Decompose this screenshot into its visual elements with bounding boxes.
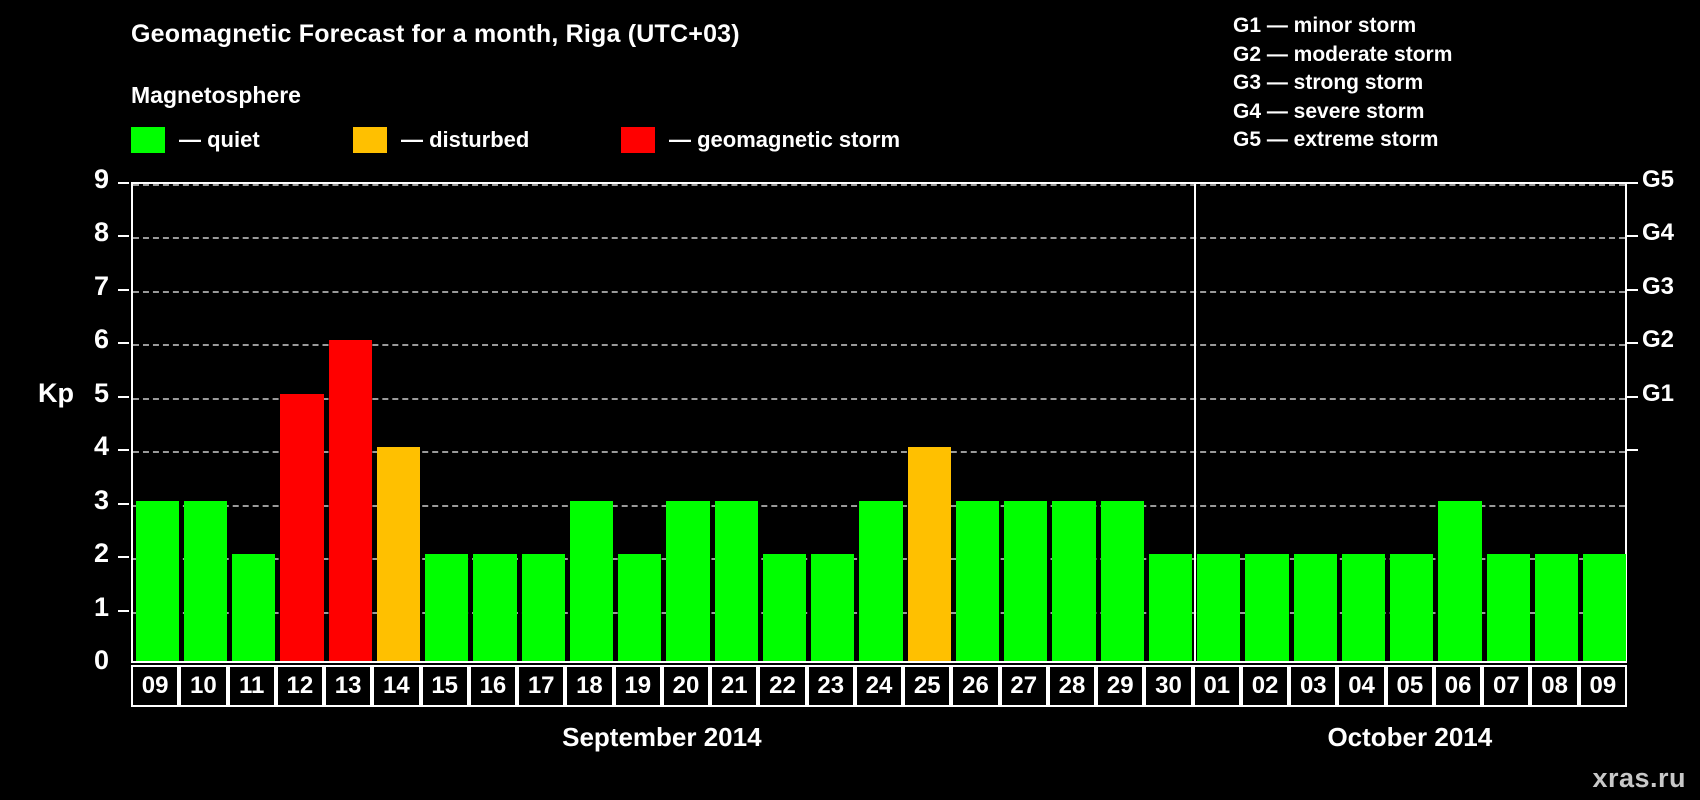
date-cell-29[interactable]: 29	[1096, 665, 1144, 707]
bar-september-24	[859, 501, 902, 661]
g-tick-mark-G5	[1627, 182, 1638, 184]
y-tick-label-8: 8	[69, 217, 109, 248]
bar-september-13	[329, 340, 372, 661]
date-cell-11[interactable]: 11	[228, 665, 276, 707]
bar-september-14	[377, 447, 420, 661]
legend-item-0: — quiet	[131, 125, 260, 155]
g-tick-mark-G4	[1627, 235, 1638, 237]
bar-september-10	[184, 501, 227, 661]
watermark: xras.ru	[1592, 763, 1686, 794]
date-cell-01[interactable]: 01	[1193, 665, 1241, 707]
date-cell-02[interactable]: 02	[1241, 665, 1289, 707]
date-cell-27[interactable]: 27	[1000, 665, 1048, 707]
bar-october-06	[1438, 501, 1481, 661]
g-axis-label-G3: G3	[1642, 273, 1674, 301]
y-tick-label-5: 5	[69, 378, 109, 409]
date-cell-09[interactable]: 09	[1579, 665, 1627, 707]
date-cell-21[interactable]: 21	[710, 665, 758, 707]
g-axis-label-G4: G4	[1642, 219, 1674, 247]
date-cell-08[interactable]: 08	[1530, 665, 1578, 707]
date-cell-20[interactable]: 20	[662, 665, 710, 707]
date-cell-04[interactable]: 04	[1337, 665, 1385, 707]
page-title: Geomagnetic Forecast for a month, Riga (…	[131, 20, 740, 49]
date-cell-30[interactable]: 30	[1144, 665, 1192, 707]
g-tick-mark-G1	[1627, 396, 1638, 398]
y-tick-mark-1	[118, 610, 129, 612]
y-tick-label-1: 1	[69, 592, 109, 623]
date-cell-13[interactable]: 13	[324, 665, 372, 707]
y-tick-mark-9	[118, 182, 129, 184]
magnetosphere-label: Magnetosphere	[131, 82, 301, 109]
g-scale-legend: G1 — minor stormG2 — moderate stormG3 — …	[1233, 12, 1452, 155]
bar-september-11	[232, 554, 275, 661]
date-cell-18[interactable]: 18	[565, 665, 613, 707]
y-tick-mark-5	[118, 396, 129, 398]
bar-september-29	[1101, 501, 1144, 661]
date-cell-19[interactable]: 19	[614, 665, 662, 707]
date-cell-05[interactable]: 05	[1386, 665, 1434, 707]
legend-item-label: — quiet	[179, 127, 260, 153]
bar-october-03	[1294, 554, 1337, 661]
date-cell-15[interactable]: 15	[421, 665, 469, 707]
bar-october-08	[1535, 554, 1578, 661]
date-cell-17[interactable]: 17	[517, 665, 565, 707]
legend-item-1: — disturbed	[353, 125, 529, 155]
bar-september-17	[522, 554, 565, 661]
disturbed-swatch	[353, 127, 387, 153]
month-caption-0: September 2014	[131, 722, 1193, 753]
bar-september-23	[811, 554, 854, 661]
date-cell-28[interactable]: 28	[1048, 665, 1096, 707]
y-tick-label-6: 6	[69, 324, 109, 355]
g-scale-item-2: G2 — moderate storm	[1233, 41, 1452, 70]
plot-area	[131, 182, 1627, 663]
date-cell-24[interactable]: 24	[855, 665, 903, 707]
bar-september-21	[715, 501, 758, 661]
bar-september-28	[1052, 501, 1095, 661]
storm-swatch	[621, 127, 655, 153]
date-cell-14[interactable]: 14	[372, 665, 420, 707]
bar-september-22	[763, 554, 806, 661]
bar-september-27	[1004, 501, 1047, 661]
bar-september-19	[618, 554, 661, 661]
g-axis-label-G1: G1	[1642, 380, 1674, 408]
g-scale-item-5: G5 — extreme storm	[1233, 126, 1452, 155]
bar-october-01	[1197, 554, 1240, 661]
g-scale-item-4: G4 — severe storm	[1233, 98, 1452, 127]
date-cell-03[interactable]: 03	[1289, 665, 1337, 707]
g-tick-mark-kp4	[1627, 449, 1638, 451]
g-axis-label-G2: G2	[1642, 326, 1674, 354]
bar-series	[133, 184, 1625, 661]
bar-october-07	[1487, 554, 1530, 661]
y-tick-mark-2	[118, 556, 129, 558]
y-tick-label-9: 9	[69, 164, 109, 195]
y-tick-mark-7	[118, 289, 129, 291]
bar-september-25	[908, 447, 951, 661]
g-tick-mark-G3	[1627, 289, 1638, 291]
y-tick-label-2: 2	[69, 538, 109, 569]
bar-september-18	[570, 501, 613, 661]
date-cell-09[interactable]: 09	[131, 665, 179, 707]
g-tick-mark-G2	[1627, 342, 1638, 344]
date-cell-25[interactable]: 25	[903, 665, 951, 707]
legend-item-label: — disturbed	[401, 127, 529, 153]
date-cell-26[interactable]: 26	[951, 665, 999, 707]
y-tick-mark-6	[118, 342, 129, 344]
month-caption-1: October 2014	[1193, 722, 1627, 753]
g-axis-label-G5: G5	[1642, 166, 1674, 194]
y-tick-label-0: 0	[69, 645, 109, 676]
bar-september-16	[473, 554, 516, 661]
bar-september-20	[666, 501, 709, 661]
date-cell-07[interactable]: 07	[1482, 665, 1530, 707]
date-cell-10[interactable]: 10	[179, 665, 227, 707]
y-tick-mark-3	[118, 503, 129, 505]
bar-september-09	[136, 501, 179, 661]
bar-september-15	[425, 554, 468, 661]
bar-september-12	[280, 394, 323, 661]
bar-october-02	[1245, 554, 1288, 661]
geomagnetic-forecast-chart: Geomagnetic Forecast for a month, Riga (…	[0, 0, 1700, 800]
y-tick-label-7: 7	[69, 271, 109, 302]
y-tick-mark-8	[118, 235, 129, 237]
g-scale-item-3: G3 — strong storm	[1233, 69, 1452, 98]
bar-october-09	[1583, 554, 1626, 661]
date-cell-06[interactable]: 06	[1434, 665, 1482, 707]
month-separator	[1194, 184, 1196, 661]
legend-item-2: — geomagnetic storm	[621, 125, 900, 155]
bar-september-26	[956, 501, 999, 661]
date-cell-23[interactable]: 23	[807, 665, 855, 707]
date-cell-12[interactable]: 12	[276, 665, 324, 707]
y-tick-mark-4	[118, 449, 129, 451]
bar-october-04	[1342, 554, 1385, 661]
legend-item-label: — geomagnetic storm	[669, 127, 900, 153]
date-cell-16[interactable]: 16	[469, 665, 517, 707]
quiet-swatch	[131, 127, 165, 153]
g-scale-item-1: G1 — minor storm	[1233, 12, 1452, 41]
y-tick-label-3: 3	[69, 485, 109, 516]
date-axis: 0910111213141516171819202122232425262728…	[131, 665, 1627, 707]
bar-october-05	[1390, 554, 1433, 661]
y-tick-label-4: 4	[69, 431, 109, 462]
bar-september-30	[1149, 554, 1192, 661]
date-cell-22[interactable]: 22	[758, 665, 806, 707]
